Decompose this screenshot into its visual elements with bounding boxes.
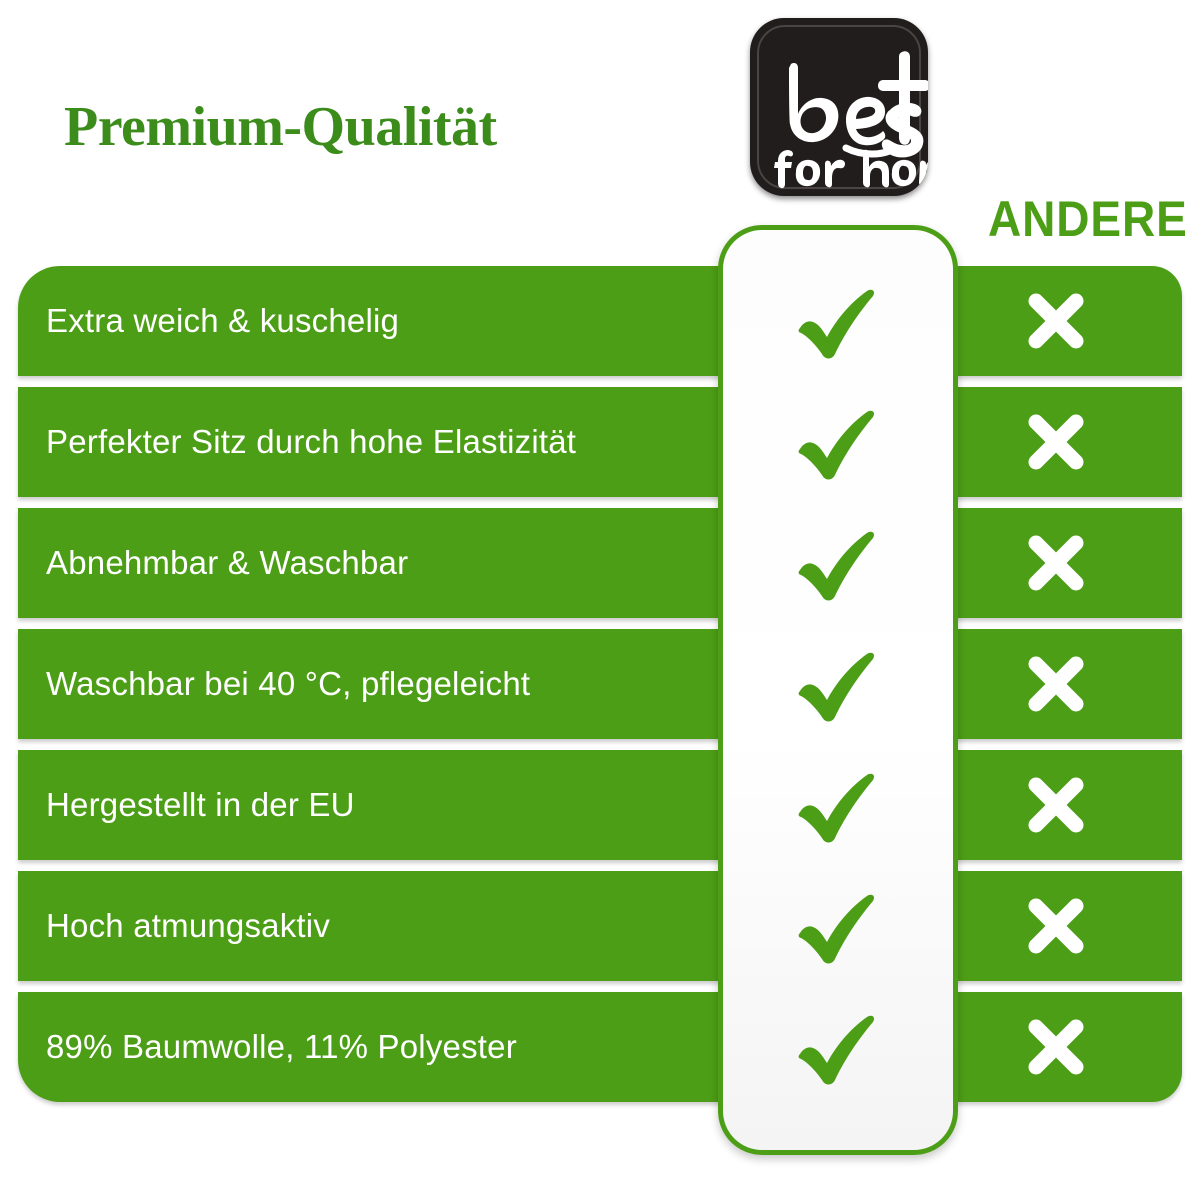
check-icon — [794, 403, 882, 481]
feature-label: Extra weich & kuschelig — [46, 266, 399, 376]
feature-label: Waschbar bei 40 °C, pflegeleicht — [46, 629, 530, 739]
others-cell — [930, 266, 1182, 376]
logo-wordmark-icon — [750, 18, 928, 196]
feature-label: Hergestellt in der EU — [46, 750, 355, 860]
product-cell — [718, 871, 958, 981]
check-icon — [794, 645, 882, 723]
comparison-row: 89% Baumwolle, 11% Polyester — [0, 992, 1200, 1102]
best-for-home-logo — [750, 18, 928, 196]
feature-label: Hoch atmungsaktiv — [46, 871, 330, 981]
others-cell — [930, 508, 1182, 618]
x-icon — [1025, 290, 1087, 352]
page-title: Premium-Qualität — [64, 95, 497, 159]
x-icon — [1025, 774, 1087, 836]
x-icon — [1025, 532, 1087, 594]
check-icon — [794, 282, 882, 360]
others-cell — [930, 750, 1182, 860]
column-header-andere: ANDERE — [988, 190, 1188, 248]
feature-label: Perfekter Sitz durch hohe Elastizität — [46, 387, 576, 497]
others-cell — [930, 992, 1182, 1102]
comparison-rows: Extra weich & kuscheligPerfekter Sitz du… — [0, 266, 1200, 1113]
check-icon — [794, 766, 882, 844]
product-cell — [718, 266, 958, 376]
product-cell — [718, 992, 958, 1102]
check-icon — [794, 524, 882, 602]
others-cell — [930, 629, 1182, 739]
x-icon — [1025, 1016, 1087, 1078]
comparison-infographic: Premium-Qualität — [0, 0, 1200, 1200]
product-cell — [718, 629, 958, 739]
product-cell — [718, 387, 958, 497]
x-icon — [1025, 653, 1087, 715]
comparison-row: Hoch atmungsaktiv — [0, 871, 1200, 981]
others-cell — [930, 871, 1182, 981]
comparison-row: Extra weich & kuschelig — [0, 266, 1200, 376]
feature-label: Abnehmbar & Waschbar — [46, 508, 408, 618]
comparison-row: Waschbar bei 40 °C, pflegeleicht — [0, 629, 1200, 739]
check-icon — [794, 887, 882, 965]
comparison-row: Perfekter Sitz durch hohe Elastizität — [0, 387, 1200, 497]
others-cell — [930, 387, 1182, 497]
product-cell — [718, 508, 958, 618]
x-icon — [1025, 411, 1087, 473]
feature-label: 89% Baumwolle, 11% Polyester — [46, 992, 517, 1102]
x-icon — [1025, 895, 1087, 957]
check-icon — [794, 1008, 882, 1086]
product-cell — [718, 750, 958, 860]
comparison-row: Abnehmbar & Waschbar — [0, 508, 1200, 618]
comparison-row: Hergestellt in der EU — [0, 750, 1200, 860]
product-check-stack — [718, 266, 958, 1113]
